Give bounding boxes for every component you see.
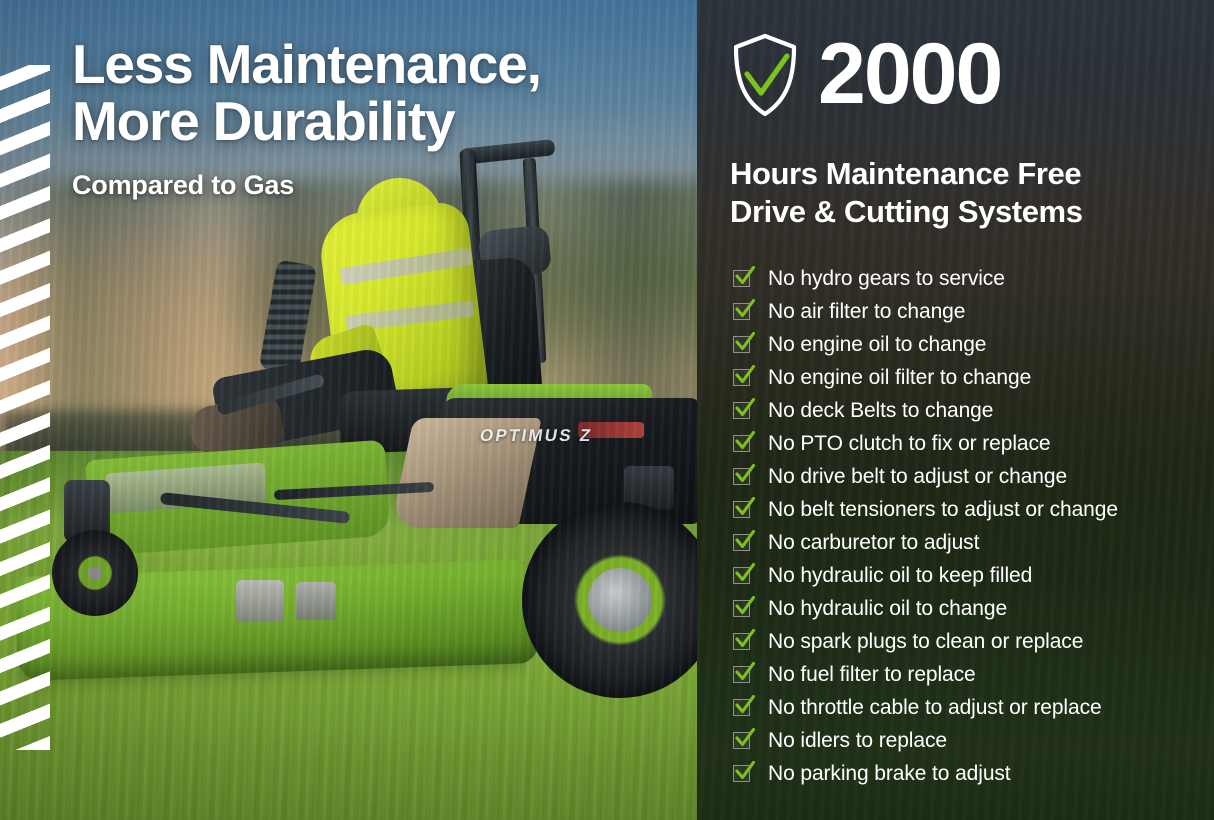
panel-subtitle-line-2: Drive & Cutting Systems [730,193,1190,231]
mower-illustration: OPTIMUS Z [10,150,690,650]
checklist-item-label: No engine oil to change [768,333,986,357]
checkmark-icon [733,369,750,386]
checklist-item: No engine oil to change [733,328,1200,361]
checklist-item: No fuel filter to replace [733,658,1200,691]
checklist-item: No PTO clutch to fix or replace [733,427,1200,460]
checklist-item: No carburetor to adjust [733,526,1200,559]
checklist-item-label: No carburetor to adjust [768,531,979,555]
panel-subtitle-line-1: Hours Maintenance Free [730,155,1190,193]
checklist-item-label: No hydro gears to service [768,267,1005,291]
checklist-item: No engine oil filter to change [733,361,1200,394]
checklist-item-label: No hydraulic oil to change [768,597,1007,621]
checkmark-icon [733,468,750,485]
checklist-item-label: No air filter to change [768,300,965,324]
panel-header: 2000 [730,32,1001,118]
page-title: Less Maintenance, More Durability [72,36,672,150]
shield-check-icon [730,32,800,118]
headline-line-2: More Durability [72,93,672,150]
checklist-item: No deck Belts to change [733,394,1200,427]
checklist-item-label: No deck Belts to change [768,399,993,423]
checklist-item-label: No fuel filter to replace [768,663,976,687]
checkmark-icon [733,567,750,584]
stats-panel: 2000 Hours Maintenance Free Drive & Cutt… [697,0,1214,820]
checkmark-icon [733,600,750,617]
mower-brand-label: OPTIMUS Z [478,426,594,446]
checkmark-icon [733,633,750,650]
checklist-item-label: No PTO clutch to fix or replace [768,432,1050,456]
checklist-item: No throttle cable to adjust or replace [733,691,1200,724]
checklist-item: No hydraulic oil to change [733,592,1200,625]
checkmark-icon [733,534,750,551]
checklist-item-label: No spark plugs to clean or replace [768,630,1083,654]
deck-canister [296,582,336,620]
checkmark-icon [733,732,750,749]
checklist-item: No drive belt to adjust or change [733,460,1200,493]
checkmark-icon [733,666,750,683]
checklist-item: No idlers to replace [733,724,1200,757]
checklist-item-label: No idlers to replace [768,729,947,753]
checkmark-icon [733,501,750,518]
headline-line-1: Less Maintenance, [72,36,672,93]
checklist-item-label: No hydraulic oil to keep filled [768,564,1032,588]
checkmark-icon [733,435,750,452]
checkmark-icon [733,765,750,782]
suspension-spring [259,259,317,374]
checklist-item-label: No engine oil filter to change [768,366,1031,390]
checklist-item-label: No drive belt to adjust or change [768,465,1067,489]
checklist-item-label: No throttle cable to adjust or replace [768,696,1102,720]
front-caster-wheel [52,530,138,616]
checklist-item: No parking brake to adjust [733,757,1200,790]
checkmark-icon [733,699,750,716]
checklist-item-label: No belt tensioners to adjust or change [768,498,1118,522]
hours-value: 2000 [818,35,1001,114]
checkmark-icon [733,270,750,287]
maintenance-checklist: No hydro gears to serviceNo air filter t… [733,262,1200,790]
infographic-poster: OPTIMUS Z Less Maintenance, More Durabil… [0,0,1214,820]
left-text-block: Less Maintenance, More Durability Compar… [72,36,672,201]
panel-subtitle: Hours Maintenance Free Drive & Cutting S… [730,155,1190,231]
checkmark-icon [733,402,750,419]
deck-canister [236,580,284,622]
checklist-item: No spark plugs to clean or replace [733,625,1200,658]
checklist-item: No hydraulic oil to keep filled [733,559,1200,592]
checklist-item: No air filter to change [733,295,1200,328]
checkmark-icon [733,303,750,320]
page-subtitle: Compared to Gas [72,170,672,201]
rear-wheel-hub [588,568,652,632]
checklist-item: No hydro gears to service [733,262,1200,295]
checklist-item: No belt tensioners to adjust or change [733,493,1200,526]
checkmark-icon [733,336,750,353]
checklist-item-label: No parking brake to adjust [768,762,1011,786]
